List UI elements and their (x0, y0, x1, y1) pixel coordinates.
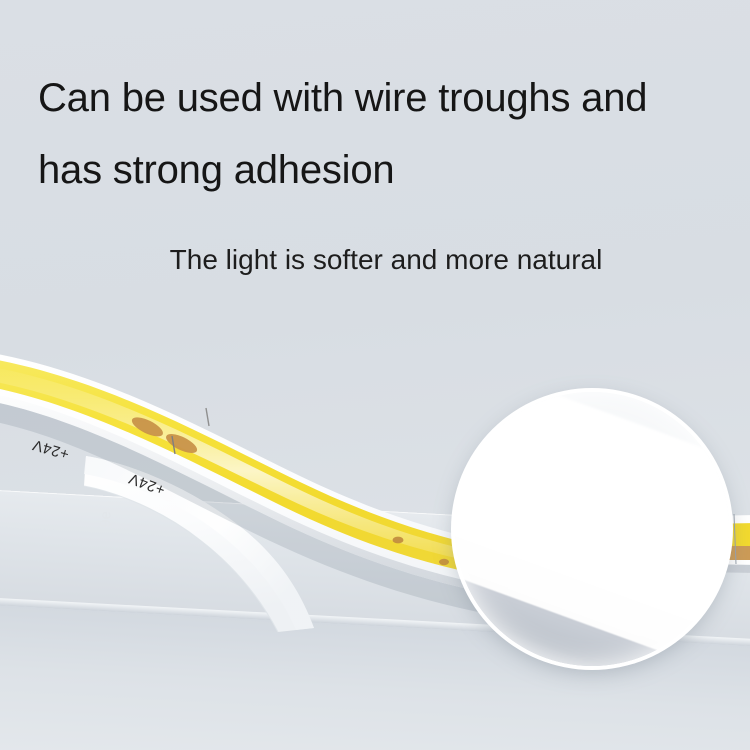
product-photo: 9e (0, 300, 750, 750)
product-image-canvas: Can be used with wire troughs and has st… (0, 0, 750, 750)
subtitle-text: The light is softer and more natural (0, 240, 750, 280)
headline-text: Can be used with wire troughs and has st… (38, 62, 738, 206)
magnifier-inner-glow (455, 392, 729, 666)
magnifier-circle-inset (455, 392, 729, 666)
